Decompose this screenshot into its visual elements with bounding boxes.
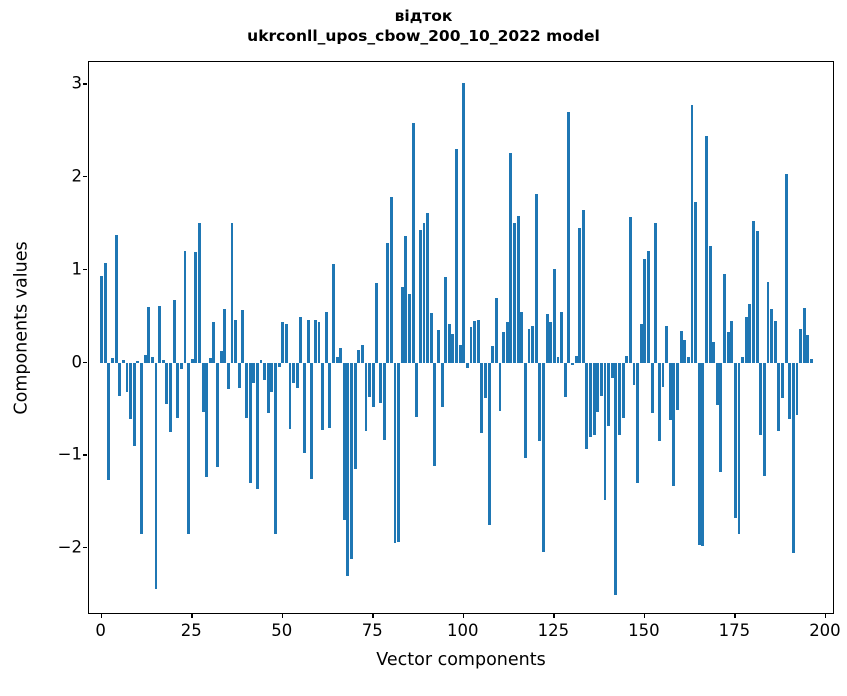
bar — [245, 363, 248, 419]
bar — [719, 363, 722, 472]
bar — [687, 357, 690, 363]
bar — [390, 197, 393, 363]
bar — [709, 246, 712, 363]
bar — [122, 360, 125, 363]
bar — [607, 363, 610, 426]
bar-series — [89, 62, 833, 613]
bar — [806, 335, 809, 363]
bar — [180, 363, 183, 369]
bar — [361, 345, 364, 363]
bar — [104, 263, 107, 362]
y-tick-label: −2 — [44, 538, 82, 557]
bar — [296, 363, 299, 388]
bar — [430, 313, 433, 362]
bar — [770, 309, 773, 363]
x-tick-mark — [644, 614, 645, 618]
x-axis-tick-marks — [88, 614, 834, 619]
bar — [564, 363, 567, 397]
bar — [426, 213, 429, 362]
bar — [694, 202, 697, 363]
bar — [636, 363, 639, 484]
bar — [513, 223, 516, 362]
bar — [187, 363, 190, 535]
bar — [788, 363, 791, 420]
bar — [618, 363, 621, 435]
bar — [140, 363, 143, 535]
bar — [176, 363, 179, 419]
y-tick-mark — [83, 547, 87, 548]
bar — [144, 355, 147, 362]
bar — [379, 363, 382, 404]
bar — [412, 123, 415, 362]
bar — [292, 363, 295, 383]
bar — [310, 363, 313, 479]
bar — [249, 363, 252, 484]
bar — [107, 363, 110, 480]
bar — [680, 331, 683, 363]
bar — [270, 363, 273, 393]
bar — [596, 363, 599, 412]
bar — [147, 307, 150, 363]
bar — [314, 320, 317, 363]
bar — [488, 363, 491, 525]
bar — [643, 259, 646, 363]
x-tick-mark — [372, 614, 373, 618]
bar — [252, 363, 255, 383]
bar — [810, 359, 813, 363]
x-tick-label: 150 — [609, 621, 679, 640]
bar — [792, 363, 795, 553]
bar — [752, 221, 755, 363]
bar — [499, 363, 502, 411]
bar — [307, 320, 310, 363]
bar — [593, 363, 596, 435]
bar — [325, 312, 328, 363]
bar — [184, 251, 187, 362]
bar — [640, 324, 643, 363]
bar — [524, 363, 527, 459]
bar — [336, 357, 339, 363]
bar — [662, 363, 665, 387]
x-tick-label: 125 — [518, 621, 588, 640]
bar — [462, 83, 465, 362]
bar — [509, 153, 512, 363]
bar — [777, 363, 780, 432]
bar — [716, 363, 719, 406]
y-tick-label: 0 — [44, 352, 82, 371]
bar — [118, 363, 121, 396]
bar — [404, 236, 407, 363]
bar — [553, 269, 556, 363]
bar — [281, 322, 284, 363]
bar — [234, 320, 237, 363]
x-tick-label: 200 — [790, 621, 847, 640]
plot-area — [88, 61, 834, 614]
bar — [748, 304, 751, 362]
bar — [303, 363, 306, 453]
bar — [495, 298, 498, 363]
x-tick-label: 175 — [699, 621, 769, 640]
bar — [459, 345, 462, 363]
bar — [658, 363, 661, 441]
bar — [625, 356, 628, 362]
bar — [466, 363, 469, 369]
bar — [343, 363, 346, 521]
bar — [480, 363, 483, 434]
bar — [173, 300, 176, 362]
y-axis-label: Components values — [12, 52, 32, 605]
bar — [328, 363, 331, 428]
x-tick-label: 0 — [66, 621, 136, 640]
bar — [672, 363, 675, 486]
bar — [321, 363, 324, 431]
bar — [419, 230, 422, 363]
bar — [528, 329, 531, 362]
bar — [209, 358, 212, 363]
bar — [223, 309, 226, 363]
bar — [397, 363, 400, 542]
bar — [705, 136, 708, 362]
bar — [723, 274, 726, 363]
bar — [575, 356, 578, 362]
bar — [260, 360, 263, 363]
bar — [299, 317, 302, 362]
bar — [585, 363, 588, 449]
bar — [100, 276, 103, 362]
chart-title-line-1: відток — [0, 6, 847, 26]
x-tick-mark — [191, 614, 192, 618]
bar — [372, 363, 375, 408]
bar — [111, 358, 114, 363]
bar — [691, 105, 694, 363]
chart-title: відток ukrconll_upos_cbow_200_10_2022 mo… — [0, 6, 847, 46]
x-tick-label: 75 — [337, 621, 407, 640]
bar — [560, 312, 563, 363]
bar — [647, 251, 650, 362]
bar — [763, 363, 766, 476]
bar — [502, 332, 505, 363]
bar — [484, 363, 487, 398]
bar — [727, 332, 730, 363]
bar — [115, 235, 118, 363]
bar — [535, 194, 538, 363]
bar — [285, 324, 288, 363]
y-tick-mark — [83, 269, 87, 270]
bar — [567, 112, 570, 363]
x-tick-label: 25 — [156, 621, 226, 640]
bar — [267, 363, 270, 413]
bar — [274, 363, 277, 535]
bar — [191, 359, 194, 363]
bar — [698, 363, 701, 546]
bar — [433, 363, 436, 466]
bar — [759, 363, 762, 435]
x-axis-label: Vector components — [88, 650, 834, 670]
bar — [133, 363, 136, 447]
bar — [712, 342, 715, 362]
bar — [350, 363, 353, 560]
bar — [415, 363, 418, 418]
y-tick-mark — [83, 176, 87, 177]
bar — [683, 340, 686, 362]
bar — [231, 223, 234, 363]
bar — [796, 363, 799, 415]
bar — [238, 363, 241, 388]
bar — [520, 312, 523, 363]
bar — [354, 363, 357, 470]
bar — [126, 363, 129, 393]
bar — [151, 357, 154, 363]
bar — [517, 216, 520, 363]
bar — [441, 363, 444, 408]
bar — [629, 217, 632, 363]
bar — [622, 363, 625, 419]
bar — [205, 363, 208, 477]
y-axis-tick-labels: −2−10123 — [36, 61, 82, 614]
bar — [756, 231, 759, 363]
bar — [162, 360, 165, 363]
bar — [332, 264, 335, 362]
bar — [136, 361, 139, 363]
bar — [571, 363, 574, 366]
bar — [654, 223, 657, 362]
y-tick-label: 1 — [44, 259, 82, 278]
bar — [383, 363, 386, 440]
bar — [633, 363, 636, 385]
y-tick-mark — [83, 454, 87, 455]
bar — [741, 357, 744, 363]
bar — [451, 334, 454, 363]
bar — [781, 363, 784, 398]
bar — [549, 322, 552, 363]
bar — [216, 363, 219, 468]
bar — [155, 363, 158, 589]
bar — [165, 363, 168, 405]
bar — [220, 351, 223, 362]
bar — [423, 223, 426, 363]
bar — [604, 363, 607, 500]
bar — [589, 363, 592, 437]
bar — [444, 277, 447, 362]
bar — [256, 363, 259, 489]
bar — [448, 324, 451, 363]
x-tick-label: 100 — [428, 621, 498, 640]
bar — [506, 322, 509, 363]
bar — [676, 363, 679, 410]
bar — [745, 317, 748, 362]
bar — [734, 363, 737, 518]
bar — [357, 350, 360, 363]
bar — [375, 283, 378, 363]
x-tick-mark — [734, 614, 735, 618]
bar — [339, 348, 342, 363]
y-tick-label: 2 — [44, 167, 82, 186]
bar — [799, 329, 802, 362]
bar — [538, 363, 541, 442]
bar — [557, 357, 560, 363]
bar — [477, 320, 480, 363]
bar — [158, 306, 161, 363]
bar — [491, 346, 494, 363]
bar — [394, 363, 397, 543]
bar — [212, 322, 215, 363]
y-tick-mark — [83, 83, 87, 84]
bar — [730, 321, 733, 363]
bar — [129, 363, 132, 420]
bar — [365, 363, 368, 432]
bar — [198, 223, 201, 363]
bar — [803, 308, 806, 363]
bar — [241, 310, 244, 363]
bar — [738, 363, 741, 535]
bar — [531, 326, 534, 362]
bar — [318, 322, 321, 363]
x-tick-mark — [463, 614, 464, 618]
bar — [669, 363, 672, 421]
bar — [346, 363, 349, 576]
bar — [401, 287, 404, 362]
bar — [582, 210, 585, 362]
bar — [470, 327, 473, 362]
y-tick-label: 3 — [44, 74, 82, 93]
bar — [473, 321, 476, 363]
bar — [386, 243, 389, 363]
bar — [169, 363, 172, 433]
bar — [408, 294, 411, 363]
bar — [194, 252, 197, 362]
bar — [665, 326, 668, 363]
bar — [542, 363, 545, 552]
x-tick-mark — [553, 614, 554, 618]
bar — [767, 282, 770, 363]
bar — [578, 228, 581, 363]
bar — [546, 314, 549, 362]
x-tick-mark — [101, 614, 102, 618]
bar — [774, 321, 777, 363]
bar — [785, 174, 788, 362]
bar — [651, 363, 654, 413]
bar — [278, 363, 281, 368]
bar — [600, 363, 603, 396]
bar — [263, 363, 266, 381]
bar — [202, 363, 205, 412]
x-tick-mark — [282, 614, 283, 618]
x-tick-label: 50 — [247, 621, 317, 640]
bar — [368, 363, 371, 397]
chart-title-line-2: ukrconll_upos_cbow_200_10_2022 model — [0, 26, 847, 46]
bar — [289, 363, 292, 430]
bar — [455, 149, 458, 362]
bar — [437, 330, 440, 362]
x-tick-mark — [825, 614, 826, 618]
x-axis-tick-labels: 0255075100125150175200 — [88, 621, 834, 645]
bar — [611, 363, 614, 379]
y-tick-mark — [83, 362, 87, 363]
bar — [614, 363, 617, 595]
bar — [227, 363, 230, 389]
bar — [701, 363, 704, 547]
matplotlib-figure: відток ukrconll_upos_cbow_200_10_2022 mo… — [0, 0, 847, 696]
y-tick-label: −1 — [44, 445, 82, 464]
